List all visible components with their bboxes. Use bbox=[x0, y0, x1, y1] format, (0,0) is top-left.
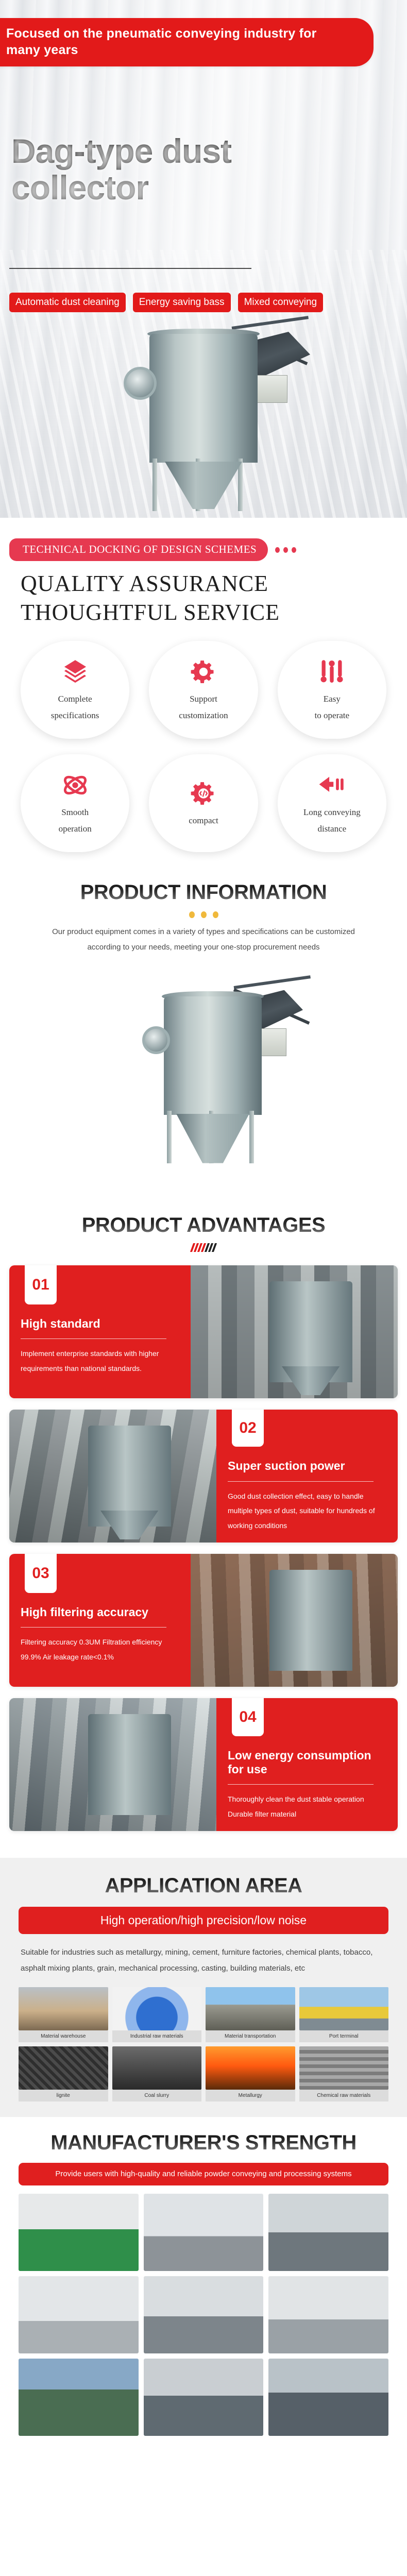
hero-tag-energy-saving-bass[interactable]: Energy saving bass bbox=[133, 293, 231, 312]
manufacturer-photo bbox=[19, 2194, 139, 2271]
layers-icon bbox=[62, 656, 89, 688]
application-cell-industrial-raw-materials[interactable]: Industrial raw materials bbox=[112, 1987, 202, 2042]
application-caption: Industrial raw materials bbox=[112, 2030, 202, 2042]
ribbon-row: TECHNICAL DOCKING OF DESIGN SCHEMES bbox=[9, 538, 398, 561]
application-caption: Metallurgy bbox=[206, 2090, 295, 2102]
advantage-number-badge: 03 bbox=[25, 1554, 57, 1593]
advantage-divider bbox=[21, 1627, 166, 1628]
feature-support-customization[interactable]: Support customization bbox=[149, 641, 258, 739]
advantage-text-panel: 03 High filtering accuracy Filtering acc… bbox=[9, 1554, 191, 1687]
manufacturer-photo bbox=[19, 2276, 139, 2353]
advantage-title: High filtering accuracy bbox=[21, 1605, 179, 1619]
product-information-subtitle-line2: according to your needs, meeting your on… bbox=[13, 940, 394, 955]
support-beam-icon bbox=[234, 975, 311, 989]
manufacturer-photo bbox=[144, 2194, 264, 2271]
advantage-card-03[interactable]: 03 High filtering accuracy Filtering acc… bbox=[9, 1554, 398, 1687]
advantage-photo bbox=[9, 1698, 216, 1831]
hero-product-photo bbox=[103, 319, 319, 518]
advantage-text-panel: 04 Low energy consumption for use Thorou… bbox=[216, 1698, 398, 1831]
quality-heading-line2: THOUGHTFUL SERVICE bbox=[9, 598, 398, 627]
code-gear-icon bbox=[190, 777, 217, 809]
advantage-photo bbox=[191, 1265, 398, 1398]
feature-label: specifications bbox=[51, 707, 99, 723]
product-information-subtitle-line1: Our product equipment comes in a variety… bbox=[13, 924, 394, 940]
manufacturer-strength-section: MANUFACTURER'S STRENGTH Provide users wi… bbox=[0, 2117, 407, 2448]
product-information-section: PRODUCT INFORMATION Our product equipmen… bbox=[0, 868, 407, 1202]
advantage-description: Good dust collection effect, easy to han… bbox=[228, 1489, 386, 1533]
application-area-band: High operation/high precision/low noise bbox=[19, 1907, 388, 1934]
silo-cone-shape bbox=[165, 462, 242, 509]
application-thumbnail bbox=[206, 1987, 295, 2030]
sliders-icon bbox=[318, 656, 345, 688]
advantage-card-01[interactable]: 01 High standard Implement enterprise st… bbox=[9, 1265, 398, 1398]
advantage-number-badge: 01 bbox=[25, 1265, 57, 1304]
gear-icon bbox=[190, 656, 217, 688]
three-dots-icon bbox=[275, 547, 296, 553]
silo-leg-shape bbox=[249, 1111, 254, 1163]
application-cell-material-warehouse[interactable]: Material warehouse bbox=[19, 1987, 108, 2042]
silo-body-shape bbox=[149, 334, 258, 463]
application-caption: Material transportation bbox=[206, 2030, 295, 2042]
advantage-title: High standard bbox=[21, 1317, 179, 1330]
product-information-heading: PRODUCT INFORMATION bbox=[80, 881, 327, 904]
advantage-card-02[interactable]: 02 Super suction power Good dust collect… bbox=[9, 1410, 398, 1543]
application-area-grid: Material warehouse Industrial raw materi… bbox=[9, 1987, 398, 2102]
feature-label: Smooth bbox=[61, 804, 89, 820]
feature-compact[interactable]: compact bbox=[149, 754, 258, 852]
advantage-number-badge: 04 bbox=[232, 1698, 264, 1737]
hero-tag-automatic-dust-cleaning[interactable]: Automatic dust cleaning bbox=[9, 293, 126, 312]
product-advantages-heading: PRODUCT ADVANTAGES bbox=[82, 1214, 325, 1237]
application-thumbnail bbox=[112, 2046, 202, 2090]
hero-section: Focused on the pneumatic conveying indus… bbox=[0, 0, 407, 518]
hero-tag-list: Automatic dust cleaning Energy saving ba… bbox=[9, 293, 323, 312]
advantage-divider bbox=[21, 1338, 166, 1339]
product-information-photo bbox=[9, 960, 407, 1197]
application-caption: Coal slurry bbox=[112, 2090, 202, 2102]
application-cell-lignite[interactable]: lignite bbox=[19, 2046, 108, 2102]
advantage-card-04[interactable]: 04 Low energy consumption for use Thorou… bbox=[9, 1698, 398, 1831]
application-area-description: Suitable for industries such as metallur… bbox=[9, 1944, 398, 1977]
feature-complete-specifications[interactable]: Complete specifications bbox=[21, 641, 129, 739]
advantage-divider bbox=[228, 1481, 374, 1482]
feature-label: to operate bbox=[315, 707, 350, 723]
advantage-text-panel: 01 High standard Implement enterprise st… bbox=[9, 1265, 191, 1398]
application-cell-coal-slurry[interactable]: Coal slurry bbox=[112, 2046, 202, 2102]
application-area-heading: APPLICATION AREA bbox=[105, 1874, 302, 1897]
quality-assurance-section: TECHNICAL DOCKING OF DESIGN SCHEMES QUAL… bbox=[0, 518, 407, 868]
feature-smooth-operation[interactable]: Smooth operation bbox=[21, 754, 129, 852]
advantage-title: Low energy consumption for use bbox=[228, 1749, 386, 1776]
flange-shape bbox=[142, 1026, 170, 1054]
application-thumbnail bbox=[112, 1987, 202, 2030]
hero-divider bbox=[9, 268, 251, 269]
application-thumbnail bbox=[19, 1987, 108, 2030]
advantage-number-badge: 02 bbox=[232, 1410, 264, 1447]
feature-easy-to-operate[interactable]: Easy to operate bbox=[278, 641, 386, 739]
quality-heading-line1: QUALITY ASSURANCE bbox=[9, 569, 398, 598]
manufacturer-band: Provide users with high-quality and reli… bbox=[19, 2163, 388, 2185]
arrow-left-icon bbox=[318, 769, 345, 801]
manufacturer-photo bbox=[144, 2276, 264, 2353]
feature-label: customization bbox=[179, 707, 228, 723]
advantage-text-panel: 02 Super suction power Good dust collect… bbox=[216, 1410, 398, 1543]
three-dots-accent-icon bbox=[9, 911, 398, 918]
support-beam-icon bbox=[232, 316, 309, 330]
feature-long-conveying-distance[interactable]: Long conveying distance bbox=[278, 754, 386, 852]
slash-accent-icon bbox=[9, 1243, 398, 1252]
technical-docking-ribbon: TECHNICAL DOCKING OF DESIGN SCHEMES bbox=[9, 538, 268, 561]
feature-label: Easy bbox=[324, 691, 341, 707]
hero-banner: Focused on the pneumatic conveying indus… bbox=[0, 18, 374, 66]
page-title: Dag-type dust collector bbox=[11, 133, 300, 207]
advantage-description: Thoroughly clean the dust stable operati… bbox=[228, 1792, 386, 1821]
application-cell-chemical-raw-materials[interactable]: Chemical raw materials bbox=[299, 2046, 389, 2102]
feature-label: Complete bbox=[58, 691, 92, 707]
manufacturer-photo bbox=[268, 2194, 388, 2271]
application-thumbnail bbox=[19, 2046, 108, 2090]
advantage-divider bbox=[228, 1784, 374, 1785]
control-box-shape bbox=[256, 375, 287, 403]
product-advantages-section: PRODUCT ADVANTAGES 01 High standard Impl… bbox=[0, 1202, 407, 1858]
advantage-description: Filtering accuracy 0.3UM Filtration effi… bbox=[21, 1635, 179, 1664]
silo-leg-shape bbox=[152, 459, 157, 511]
application-caption: Port terminal bbox=[299, 2030, 389, 2042]
advantage-description: Implement enterprise standards with high… bbox=[21, 1346, 179, 1376]
hero-tag-mixed-conveying[interactable]: Mixed conveying bbox=[238, 293, 324, 312]
product-detail-page: Focused on the pneumatic conveying indus… bbox=[0, 0, 407, 2448]
application-thumbnail bbox=[206, 2046, 295, 2090]
feature-label: operation bbox=[59, 821, 92, 837]
advantage-title: Super suction power bbox=[228, 1459, 386, 1472]
manufacturer-photo bbox=[268, 2276, 388, 2353]
application-caption: Chemical raw materials bbox=[299, 2090, 389, 2102]
application-thumbnail bbox=[299, 1987, 389, 2030]
feature-label: Long conveying bbox=[303, 804, 361, 820]
application-cell-port-terminal[interactable]: Port terminal bbox=[299, 1987, 389, 2042]
application-cell-material-transportation[interactable]: Material transportation bbox=[206, 1987, 295, 2042]
application-caption: Material warehouse bbox=[19, 2030, 108, 2042]
feature-label: compact bbox=[189, 812, 218, 828]
advantage-photo bbox=[9, 1410, 216, 1543]
atom-icon bbox=[62, 769, 89, 801]
manufacturer-heading: MANUFACTURER'S STRENGTH bbox=[50, 2131, 357, 2155]
feature-label: distance bbox=[317, 821, 346, 837]
manufacturer-photo bbox=[268, 2359, 388, 2436]
feature-pill-grid: Complete specifications Support customiz… bbox=[9, 641, 398, 852]
manufacturer-photo-grid bbox=[9, 2194, 398, 2436]
advantage-photo bbox=[191, 1554, 398, 1687]
application-area-section: APPLICATION AREA High operation/high pre… bbox=[0, 1858, 407, 2117]
silo-body-shape bbox=[88, 1714, 171, 1815]
feature-label: Support bbox=[190, 691, 217, 707]
silo-cone-shape bbox=[176, 1114, 249, 1163]
application-thumbnail bbox=[299, 2046, 389, 2090]
application-caption: lignite bbox=[19, 2090, 108, 2102]
manufacturer-photo bbox=[19, 2359, 139, 2436]
application-cell-metallurgy[interactable]: Metallurgy bbox=[206, 2046, 295, 2102]
silo-body-shape bbox=[269, 1570, 352, 1671]
silo-body-shape bbox=[164, 996, 262, 1115]
flange-shape bbox=[124, 367, 157, 400]
silo-leg-shape bbox=[167, 1111, 172, 1163]
manufacturer-photo bbox=[144, 2359, 264, 2436]
